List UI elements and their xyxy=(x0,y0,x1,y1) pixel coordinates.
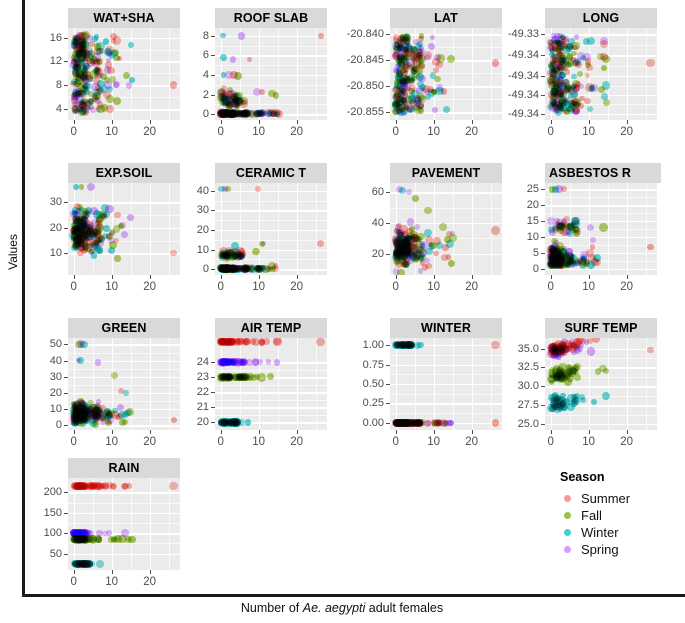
data-point-spring xyxy=(405,243,414,252)
y-axis-tick-label: -49.34 xyxy=(497,108,539,120)
x-axis-tick-mark xyxy=(434,275,435,279)
data-point-spring xyxy=(418,75,425,82)
facet-strip-label: RAIN xyxy=(68,458,180,478)
data-point-spring xyxy=(97,73,103,79)
data-point-spring xyxy=(550,70,558,78)
data-point-spring xyxy=(574,34,580,40)
y-axis-tick-label: 4 xyxy=(167,69,209,81)
gridline-horizontal-major xyxy=(545,114,657,115)
x-axis-tick-mark xyxy=(589,430,590,434)
gridline-horizontal-major xyxy=(68,202,180,203)
legend-item-label: Spring xyxy=(581,542,619,557)
facet-strip-label: LAT xyxy=(390,8,502,28)
data-point-fall xyxy=(252,248,260,256)
y-axis-tick-mark xyxy=(386,192,390,193)
y-axis-tick-label: 20 xyxy=(167,224,209,236)
x-axis-tick-label: 10 xyxy=(97,126,127,138)
y-axis-tick-label: 30 xyxy=(167,204,209,216)
data-point-spring xyxy=(554,346,560,352)
x-axis-tick-mark xyxy=(472,430,473,434)
data-point-spring xyxy=(424,420,431,427)
x-axis-tick-mark xyxy=(112,275,113,279)
data-point-spring xyxy=(393,268,399,274)
x-axis-tick-mark xyxy=(221,120,222,124)
data-point-winter xyxy=(128,42,134,48)
data-point-fall xyxy=(267,373,274,380)
y-axis-tick-label: 10 xyxy=(167,244,209,256)
legend-title: Season xyxy=(560,470,630,484)
data-point-fall xyxy=(111,372,118,379)
data-point-winter xyxy=(220,54,227,61)
data-point-winter xyxy=(234,419,241,426)
gridline-horizontal-minor xyxy=(68,385,180,386)
y-axis-tick-mark xyxy=(386,423,390,424)
data-point-summer xyxy=(247,57,252,62)
y-axis-tick-mark xyxy=(386,34,390,35)
data-point-spring xyxy=(256,266,263,273)
y-axis-tick-mark xyxy=(541,55,545,56)
data-point-winter xyxy=(587,106,593,112)
y-axis-tick-label: 35.0 xyxy=(497,343,539,355)
data-point-summer xyxy=(121,483,128,490)
data-point-spring xyxy=(549,228,557,236)
data-point-summer xyxy=(255,186,260,191)
gridline-vertical-minor xyxy=(608,338,609,430)
y-axis-tick-mark xyxy=(211,377,215,378)
y-axis-tick-mark xyxy=(64,253,68,254)
gridline-horizontal-minor xyxy=(215,400,327,401)
y-axis-tick-mark xyxy=(541,189,545,190)
y-axis-tick-label: 8 xyxy=(20,79,62,91)
x-axis-tick-mark xyxy=(627,275,628,279)
data-point-spring xyxy=(547,217,555,225)
y-axis-tick-mark xyxy=(211,210,215,211)
y-axis-tick-mark xyxy=(541,95,545,96)
data-point-winter xyxy=(103,225,110,232)
y-axis-tick-label: 15 xyxy=(497,215,539,227)
data-point-spring xyxy=(73,63,81,71)
y-axis-tick-mark xyxy=(211,114,215,115)
data-point-spring xyxy=(431,420,437,426)
data-point-spring xyxy=(119,222,126,229)
data-point-summer xyxy=(646,59,654,67)
y-axis-tick-mark xyxy=(541,205,545,206)
data-point-spring xyxy=(238,32,246,40)
x-axis-tick-label: 0 xyxy=(381,436,411,448)
gridline-horizontal-major xyxy=(68,377,180,378)
y-axis-title: Values xyxy=(6,217,20,287)
data-point-spring xyxy=(261,241,266,246)
gridline-horizontal-minor xyxy=(545,415,657,416)
data-point-summer xyxy=(441,254,447,260)
data-point-summer xyxy=(243,338,250,345)
x-axis-tick-label: 20 xyxy=(457,436,487,448)
data-point-spring xyxy=(563,36,569,42)
x-axis-tick-mark xyxy=(472,275,473,279)
data-point-fall xyxy=(447,55,455,63)
y-axis-tick-mark xyxy=(64,533,68,534)
data-point-spring xyxy=(584,339,590,345)
y-axis-tick-label: -20.845 xyxy=(342,54,384,66)
facet-strip-label: WINTER xyxy=(390,318,502,338)
x-axis-tick-mark xyxy=(259,430,260,434)
gridline-horizontal-major xyxy=(215,230,327,231)
x-axis-tick-mark xyxy=(551,430,552,434)
x-axis-tick-label: 20 xyxy=(282,281,312,293)
data-point-spring xyxy=(74,37,81,44)
legend: Season SummerFallWinterSpring xyxy=(560,470,630,558)
data-point-spring xyxy=(230,56,237,63)
data-point-spring xyxy=(82,38,88,44)
y-axis-tick-label: 1.00 xyxy=(342,339,384,351)
gridline-vertical-major xyxy=(472,183,473,275)
data-point-spring xyxy=(558,96,566,104)
data-point-spring xyxy=(104,81,112,89)
data-point-spring xyxy=(126,82,132,88)
data-point-fall xyxy=(224,374,229,379)
data-point-spring xyxy=(222,265,228,271)
legend-item-fall[interactable]: Fall xyxy=(560,507,630,524)
facet-panel-asbestos-r: ASBESTOS R051015202501020 xyxy=(497,163,657,297)
y-axis-tick-label: 0 xyxy=(20,419,62,431)
data-point-summer xyxy=(259,339,265,345)
data-point-summer xyxy=(114,238,119,243)
data-point-winter xyxy=(591,399,597,405)
data-point-spring xyxy=(418,268,423,273)
data-point-spring xyxy=(90,107,96,113)
legend-key-dot-icon xyxy=(560,526,574,540)
x-axis-tick-label: 10 xyxy=(419,281,449,293)
legend-item-label: Fall xyxy=(581,508,602,523)
data-point-spring xyxy=(75,225,82,232)
gridline-horizontal-minor xyxy=(68,503,180,504)
data-point-winter xyxy=(71,79,77,85)
data-point-summer xyxy=(233,338,240,345)
x-axis-tick-mark xyxy=(74,120,75,124)
y-axis-tick-mark xyxy=(211,362,215,363)
y-axis-tick-mark xyxy=(211,230,215,231)
x-axis-tick-mark xyxy=(589,120,590,124)
x-axis-tick-mark xyxy=(434,430,435,434)
x-axis-tick-label: 0 xyxy=(536,281,566,293)
gridline-horizontal-major xyxy=(68,492,180,493)
facet-panel-lat: LAT-20.840-20.845-20.850-20.85501020 xyxy=(342,8,502,142)
gridline-vertical-major xyxy=(627,28,628,120)
x-axis-title-species: Ae. aegypti xyxy=(303,601,366,615)
data-point-spring xyxy=(266,359,272,365)
data-point-spring xyxy=(78,399,85,406)
facet-strip-label: GREEN xyxy=(68,318,180,338)
facet-plot-area xyxy=(545,183,657,275)
data-point-spring xyxy=(83,63,89,69)
legend-item-spring[interactable]: Spring xyxy=(560,541,630,558)
y-axis-tick-label: -49.33 xyxy=(497,28,539,40)
y-axis-tick-mark xyxy=(211,392,215,393)
x-axis-tick-mark xyxy=(74,570,75,574)
data-point-spring xyxy=(436,84,444,92)
facet-panel-rain: RAIN5010015020001020 xyxy=(20,458,180,592)
data-point-winter xyxy=(245,419,251,425)
data-point-spring xyxy=(568,258,574,264)
data-point-spring xyxy=(96,399,101,404)
y-axis-tick-label: 32.5 xyxy=(497,361,539,373)
data-point-winter xyxy=(77,357,84,364)
x-axis-tick-mark xyxy=(74,430,75,434)
facet-plot-area xyxy=(390,28,502,120)
gridline-horizontal-minor xyxy=(68,523,180,524)
x-axis-tick-label: 0 xyxy=(206,281,236,293)
legend-item-summer[interactable]: Summer xyxy=(560,490,630,507)
y-axis-tick-label: 8 xyxy=(167,30,209,42)
data-point-spring xyxy=(406,189,412,195)
x-axis-tick-mark xyxy=(472,120,473,124)
data-point-spring xyxy=(101,213,107,219)
data-point-spring xyxy=(587,224,595,232)
y-axis-tick-label: 0.75 xyxy=(342,359,384,371)
facet-plot-area xyxy=(390,338,502,430)
data-point-spring xyxy=(394,68,399,73)
y-axis-tick-label: 4 xyxy=(20,103,62,115)
data-point-spring xyxy=(87,235,92,240)
y-axis-tick-label: 22 xyxy=(167,386,209,398)
data-point-spring xyxy=(80,44,85,49)
y-axis-tick-mark xyxy=(64,202,68,203)
y-axis-tick-mark xyxy=(64,409,68,410)
y-axis-tick-label: 10 xyxy=(497,231,539,243)
data-point-summer xyxy=(561,186,567,192)
y-axis-tick-label: 25 xyxy=(497,183,539,195)
data-point-winter xyxy=(549,404,557,412)
y-axis-tick-mark xyxy=(64,228,68,229)
x-axis-tick-mark xyxy=(259,120,260,124)
x-axis-tick-label: 10 xyxy=(574,281,604,293)
y-axis-tick-label: 200 xyxy=(20,486,62,498)
data-point-winter xyxy=(96,560,104,568)
y-axis-tick-label: 0.00 xyxy=(342,417,384,429)
data-point-spring xyxy=(106,50,112,56)
x-axis-tick-label: 0 xyxy=(381,126,411,138)
x-axis-tick-label: 0 xyxy=(206,126,236,138)
legend-key-dot-icon xyxy=(560,509,574,523)
data-point-spring xyxy=(392,42,400,50)
data-point-fall xyxy=(247,375,252,380)
facet-panel-green: GREEN0102030405001020 xyxy=(20,318,180,452)
facet-panel-pavement: PAVEMENT20406001020 xyxy=(342,163,502,297)
data-point-winter xyxy=(430,72,436,78)
facet-plot-area xyxy=(545,28,657,120)
data-point-spring xyxy=(83,409,90,416)
facet-panel-surf-temp: SURF TEMP25.027.530.032.535.001020 xyxy=(497,318,657,452)
y-axis-tick-mark xyxy=(64,109,68,110)
data-point-spring xyxy=(94,225,100,231)
data-point-spring xyxy=(424,89,430,95)
data-point-spring xyxy=(72,94,79,101)
gridline-horizontal-major xyxy=(215,210,327,211)
gridline-horizontal-minor xyxy=(68,369,180,370)
data-point-spring xyxy=(91,83,99,91)
y-axis-tick-label: 40 xyxy=(167,185,209,197)
x-axis-tick-mark xyxy=(297,275,298,279)
x-axis-tick-mark xyxy=(259,275,260,279)
y-axis-tick-label: 0 xyxy=(167,263,209,275)
data-point-spring xyxy=(409,252,416,259)
data-point-spring xyxy=(95,416,100,421)
y-axis-tick-label: -20.855 xyxy=(342,106,384,118)
y-axis-tick-mark xyxy=(211,269,215,270)
y-axis-tick-label: 50 xyxy=(20,548,62,560)
data-point-spring xyxy=(92,53,100,61)
y-axis-tick-label: 24 xyxy=(167,356,209,368)
facet-plot-area xyxy=(68,28,180,120)
gridline-horizontal-major xyxy=(68,513,180,514)
y-axis-tick-label: 25.0 xyxy=(497,418,539,430)
facet-plot-area xyxy=(68,338,180,430)
data-point-summer xyxy=(647,347,654,354)
data-point-summer xyxy=(114,212,121,219)
data-point-spring xyxy=(558,81,566,89)
facet-panel-long: LONG-49.33-49.34-49.34-49.34-49.3401020 xyxy=(497,8,657,142)
data-point-summer xyxy=(273,338,280,345)
facet-panel-ceramic-t: CERAMIC T01020304001020 xyxy=(167,163,327,297)
y-axis-tick-mark xyxy=(211,250,215,251)
y-axis-tick-label: 20 xyxy=(20,387,62,399)
facet-strip-label: WAT+SHA xyxy=(68,8,180,28)
facet-strip-label: PAVEMENT xyxy=(390,163,502,183)
data-point-spring xyxy=(406,58,415,67)
data-point-spring xyxy=(565,228,572,235)
data-point-spring xyxy=(572,107,580,115)
gridline-horizontal-major xyxy=(215,191,327,192)
x-axis-tick-label: 20 xyxy=(282,126,312,138)
y-axis-tick-mark xyxy=(211,75,215,76)
data-point-spring xyxy=(242,266,248,272)
y-axis-tick-mark xyxy=(64,554,68,555)
data-point-spring xyxy=(87,35,93,41)
y-axis-tick-label: 0.50 xyxy=(342,378,384,390)
y-axis-tick-label: 20 xyxy=(20,222,62,234)
data-point-spring xyxy=(257,359,263,365)
data-point-summer xyxy=(592,338,600,343)
legend-item-winter[interactable]: Winter xyxy=(560,524,630,541)
x-axis-tick-mark xyxy=(74,275,75,279)
y-axis-tick-mark xyxy=(541,253,545,254)
data-point-spring xyxy=(428,242,433,247)
data-point-fall xyxy=(424,207,432,215)
data-point-summer xyxy=(110,483,117,490)
x-axis-tick-label: 20 xyxy=(612,281,642,293)
x-axis-tick-label: 10 xyxy=(97,281,127,293)
gridline-vertical-minor xyxy=(646,338,647,430)
data-point-summer xyxy=(259,110,266,117)
data-point-spring xyxy=(232,266,238,272)
data-point-spring xyxy=(590,84,598,92)
y-axis-tick-label: 30 xyxy=(20,196,62,208)
data-point-spring xyxy=(74,101,81,108)
data-point-winter xyxy=(103,38,110,45)
x-axis-tick-label: 0 xyxy=(536,436,566,448)
data-point-fall xyxy=(599,223,607,231)
x-axis-title: Number of Ae. aegypti adult females xyxy=(22,601,662,615)
gridline-horizontal-major xyxy=(390,403,502,404)
data-point-winter xyxy=(601,93,608,100)
y-axis-tick-mark xyxy=(386,223,390,224)
gridline-horizontal-minor xyxy=(390,413,502,414)
data-point-spring xyxy=(106,58,111,63)
gridline-horizontal-minor xyxy=(68,353,180,354)
x-axis-title-suffix: adult females xyxy=(365,601,443,615)
data-point-spring xyxy=(569,338,575,344)
x-axis-tick-mark xyxy=(150,275,151,279)
data-point-winter xyxy=(80,341,88,349)
x-axis-tick-mark xyxy=(150,570,151,574)
figure-border-bottom xyxy=(22,594,685,597)
gridline-horizontal-major xyxy=(545,205,657,206)
data-point-spring xyxy=(560,342,567,349)
data-point-winter xyxy=(94,34,100,40)
data-point-spring xyxy=(72,107,78,113)
x-axis-tick-label: 0 xyxy=(381,281,411,293)
x-axis-tick-mark xyxy=(112,430,113,434)
gridline-horizontal-major xyxy=(390,384,502,385)
y-axis-tick-mark xyxy=(64,344,68,345)
facet-strip-label: ASBESTOS R xyxy=(545,163,661,183)
x-axis-tick-label: 20 xyxy=(282,436,312,448)
legend-item-label: Summer xyxy=(581,491,630,506)
facet-panel-wat-sha: WAT+SHA48121601020 xyxy=(20,8,180,142)
data-point-winter xyxy=(80,560,88,568)
y-axis-tick-label: 0 xyxy=(497,263,539,275)
y-axis-tick-mark xyxy=(541,269,545,270)
x-axis-tick-label: 10 xyxy=(419,436,449,448)
y-axis-tick-mark xyxy=(211,407,215,408)
x-axis-tick-mark xyxy=(589,275,590,279)
facet-strip-label: AIR TEMP xyxy=(215,318,327,338)
y-axis-tick-mark xyxy=(386,384,390,385)
facet-strip-label: LONG xyxy=(545,8,657,28)
y-axis-tick-label: 10 xyxy=(20,403,62,415)
x-axis-tick-label: 0 xyxy=(59,576,89,588)
y-axis-tick-label: 20 xyxy=(167,416,209,428)
gridline-horizontal-minor xyxy=(215,85,327,86)
y-axis-tick-mark xyxy=(541,349,545,350)
facet-strip-label: ROOF SLAB xyxy=(215,8,327,28)
facet-strip-label: EXP.SOIL xyxy=(68,163,180,183)
data-point-winter xyxy=(565,44,573,52)
facet-plot-area xyxy=(545,338,657,430)
x-axis-tick-mark xyxy=(396,120,397,124)
y-axis-tick-label: -49.34 xyxy=(497,89,539,101)
data-point-spring xyxy=(401,93,408,100)
y-axis-tick-mark xyxy=(541,76,545,77)
data-point-spring xyxy=(395,96,402,103)
data-point-fall xyxy=(96,536,102,542)
data-point-spring xyxy=(406,104,414,112)
data-point-spring xyxy=(127,214,134,221)
y-axis-tick-mark xyxy=(541,405,545,406)
x-axis-tick-mark xyxy=(396,430,397,434)
facet-strip-label: SURF TEMP xyxy=(545,318,657,338)
data-point-spring xyxy=(573,87,579,93)
data-point-spring xyxy=(79,245,84,250)
data-point-winter xyxy=(554,395,561,402)
y-axis-tick-mark xyxy=(541,386,545,387)
legend-key-dot-icon xyxy=(560,492,574,506)
y-axis-tick-mark xyxy=(541,367,545,368)
x-axis-tick-mark xyxy=(396,275,397,279)
y-axis-tick-label: 21 xyxy=(167,401,209,413)
x-axis-tick-label: 10 xyxy=(419,126,449,138)
data-point-fall xyxy=(79,184,84,189)
